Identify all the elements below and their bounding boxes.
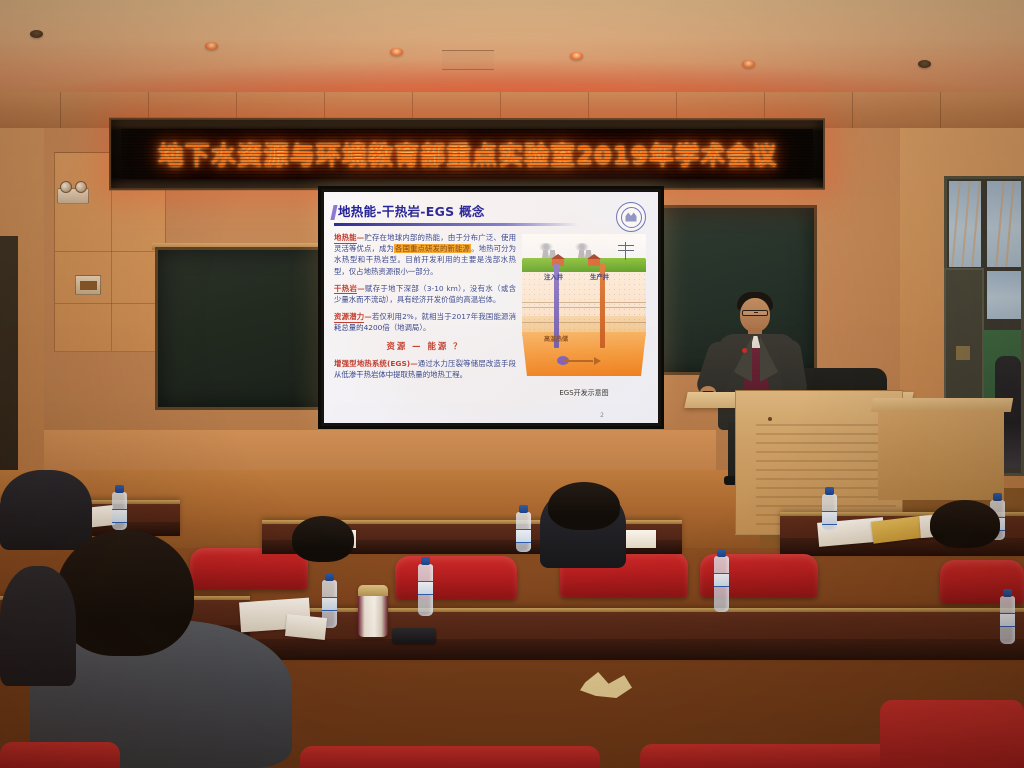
water-bottle (714, 556, 729, 612)
production-well-label: 生产井 (590, 272, 609, 281)
audience-member (292, 516, 354, 562)
paragraph-dash: — (357, 284, 364, 293)
presentation-slide: 地热能-干热岩-EGS 概念 地热能—贮存在地球内部的热能，由于分布广泛、使用灵… (324, 192, 658, 423)
paragraph-lead: 地热能 (334, 233, 357, 244)
chalkboard-left (155, 247, 327, 410)
paragraph-lead: 干热岩 (334, 284, 357, 295)
water-bottle (822, 494, 837, 530)
lecture-hall-scene: 地下水资源与环境教育部重点实验室2019年学术会议 地热能-干热岩-EGS 概念… (0, 0, 1024, 768)
presenter-badge (742, 348, 747, 353)
slide-body: 地热能—贮存在地球内部的热能，由于分布广泛、使用灵活等优点，成为各国重点研发的新… (324, 232, 658, 423)
auditorium-seat (395, 556, 517, 600)
university-seal-icon (616, 202, 646, 232)
ceiling-spotlight (918, 60, 931, 68)
paragraph-lead: 增强型地热系统(EGS) (334, 359, 410, 368)
audience-member (930, 500, 1000, 548)
power-plant-icon (576, 245, 593, 258)
ceiling-spotlight (205, 42, 218, 50)
led-banner-screen: 地下水资源与环境教育部重点实验室2019年学术会议 (121, 129, 813, 179)
audience-member-hair (56, 530, 194, 656)
paragraph-dash: — (364, 312, 371, 321)
ceiling-spotlight (30, 30, 43, 38)
ceiling-spotlight (570, 52, 583, 60)
smartphone[interactable] (392, 628, 436, 644)
title-underline (334, 223, 579, 226)
auditorium-seat (0, 742, 120, 768)
slide-page-number: 2 (600, 412, 604, 419)
speaker-knob-icon (75, 181, 87, 193)
slide-title: 地热能-干热岩-EGS 概念 (338, 201, 485, 220)
paragraph-dash: — (410, 359, 417, 368)
wall-speaker-panel (57, 188, 89, 204)
reservoir-label: 高温热储 (544, 334, 568, 343)
diagram-caption: EGS开发示意图 (522, 388, 646, 398)
side-table-body (878, 410, 1004, 500)
slide-paragraph: 资源潜力—若仅利用2%，就相当于2017年我国能源消耗总量的4200倍（地调局）… (334, 311, 516, 333)
ceiling (0, 0, 1024, 96)
thermos-flask (358, 585, 388, 637)
slide-text-column: 地热能—贮存在地球内部的热能，由于分布广泛、使用灵活等优点，成为各国重点研发的新… (334, 232, 516, 386)
window-pane (987, 181, 1021, 267)
auditorium-seat (190, 548, 308, 590)
auditorium-seat (300, 746, 600, 768)
ceiling-vent (442, 50, 494, 70)
wall-recess-left (0, 236, 18, 488)
wall-switch-plate[interactable] (75, 275, 101, 295)
power-plant-icon (540, 245, 557, 258)
egs-diagram: 注入井 生产井 高温热储 EGS开发示意图 (522, 234, 646, 386)
title-accent-bar (330, 205, 337, 220)
diagram-ground-layer (522, 258, 646, 272)
audience-member-hair (548, 482, 620, 530)
auditorium-seat (880, 700, 1024, 768)
house-icon (588, 258, 600, 266)
led-banner-text: 地下水资源与环境教育部重点实验室2019年学术会议 (158, 136, 777, 172)
water-bottle (112, 492, 127, 530)
paragraph-highlight: 各国重点研发的新能源 (394, 244, 471, 253)
slide-paragraph: 干热岩—赋存于地下深部（3-10 km），没有水（或含少量水而不流动），具有经济… (334, 283, 516, 305)
water-bottle (1000, 596, 1015, 644)
ceiling-spotlight (390, 48, 403, 56)
projection-screen: 地热能-干热岩-EGS 概念 地热能—贮存在地球内部的热能，由于分布广泛、使用灵… (318, 186, 664, 429)
audience-member (0, 566, 76, 686)
slide-paragraph-egs: 增强型地热系统(EGS)—通过水力压裂等储层改造手段从低渗干热岩体中提取热量的地… (334, 358, 516, 380)
audience-member (0, 470, 92, 550)
ceiling-spotlight (742, 60, 755, 68)
water-bottle (516, 512, 531, 552)
glasses-icon (742, 310, 768, 316)
door-sign (956, 346, 970, 360)
slide-center-question: 资源 — 能源 ？ (334, 340, 516, 352)
heat-flow-arrow-icon (557, 358, 601, 364)
led-banner: 地下水资源与环境教育部重点实验室2019年学术会议 (109, 118, 825, 191)
diagram-hot-reservoir (522, 332, 646, 376)
transmission-pylon-icon (618, 242, 634, 260)
paragraph-lead: 资源潜力 (334, 312, 364, 323)
speaker-knob-icon (60, 181, 72, 193)
slide-paragraph: 地热能—贮存在地球内部的热能，由于分布广泛、使用灵活等优点，成为各国重点研发的新… (334, 232, 516, 277)
water-bottle (418, 564, 433, 616)
injection-well-label: 注入井 (544, 272, 563, 281)
window-pane (987, 271, 1021, 319)
tissue (285, 614, 327, 640)
podium-knob (768, 417, 772, 421)
